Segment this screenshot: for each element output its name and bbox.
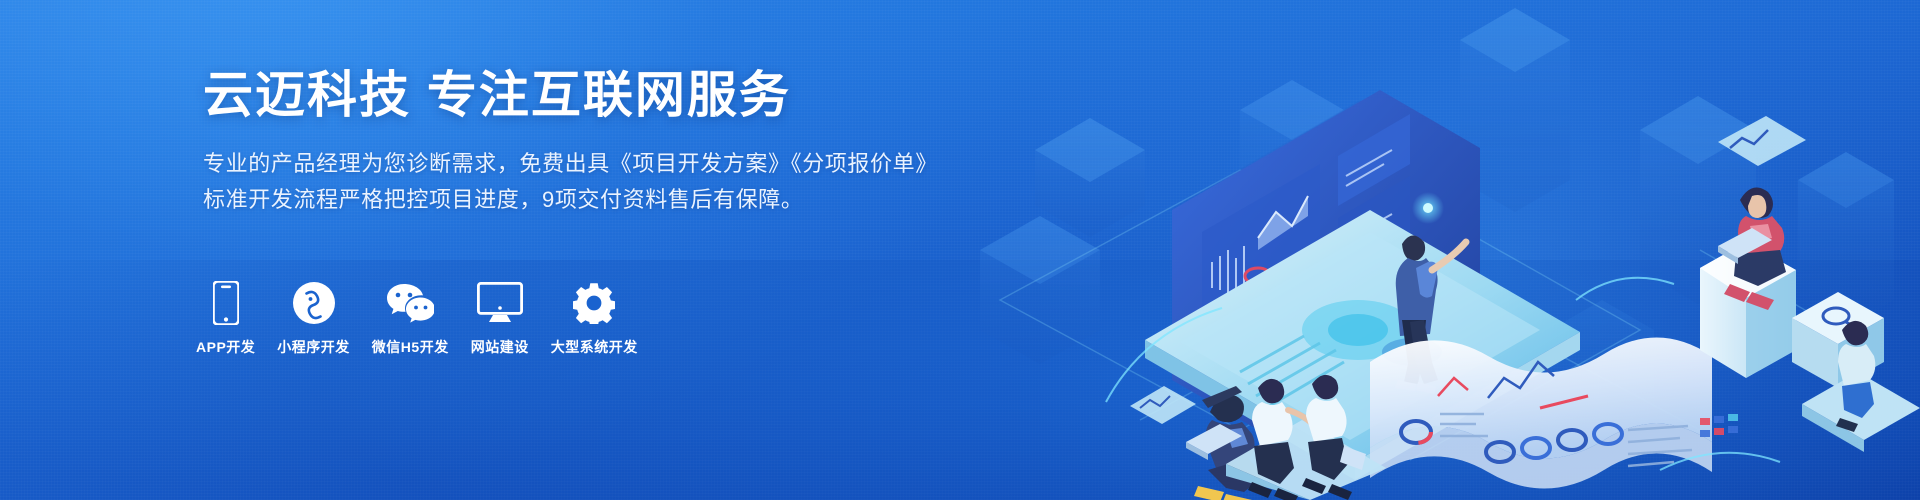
service-item-website[interactable]: 网站建设 — [471, 281, 529, 357]
standing-presenter — [1382, 235, 1466, 394]
service-label-wechat-h5: 微信H5开发 — [372, 337, 449, 357]
service-item-mini-program[interactable]: 小程序开发 — [277, 281, 350, 357]
seated-laptop-user — [1186, 386, 1264, 500]
gear-icon — [573, 281, 615, 325]
hero-banner: 云迈科技 专注互联网服务 专业的产品经理为您诊断需求，免费出具《项目开发方案》《… — [0, 0, 1920, 500]
service-label-mini-program: 小程序开发 — [277, 337, 350, 357]
subtitle-line-2: 标准开发流程严格把控项目进度，9项交付资料售后有保障。 — [203, 182, 923, 218]
smartphone-icon — [213, 281, 239, 325]
isometric-grid-lines — [1000, 170, 1840, 460]
hero-illustration — [940, 0, 1920, 500]
walking-person — [1802, 321, 1920, 452]
report-ribbon-with-charts — [1370, 337, 1738, 488]
search-cube — [1792, 292, 1884, 388]
service-item-app[interactable]: APP开发 — [196, 281, 255, 357]
banner-subtitle: 专业的产品经理为您诊断需求，免费出具《项目开发方案》《分项报价单》 标准开发流程… — [203, 146, 923, 217]
page-title: 云迈科技 专注互联网服务 — [203, 66, 923, 124]
glow-connectors — [1106, 278, 1780, 470]
service-item-wechat-h5[interactable]: 微信H5开发 — [372, 281, 449, 357]
service-item-large-system[interactable]: 大型系统开发 — [551, 281, 638, 357]
city-skyline-blocks — [980, 8, 1894, 460]
background-glow-right — [1040, 0, 1920, 500]
service-icon-row: APP开发 小程序开发 — [196, 281, 638, 357]
dashboard-screen — [1168, 0, 1480, 438]
monitor-icon — [477, 281, 523, 325]
service-label-large-system: 大型系统开发 — [551, 337, 638, 357]
woman-on-pillar-with-laptop — [1700, 116, 1806, 378]
banner-copy: 云迈科技 专注互联网服务 专业的产品经理为您诊断需求，免费出具《项目开发方案》《… — [203, 66, 923, 217]
subtitle-line-1: 专业的产品经理为您诊断需求，免费出具《项目开发方案》《分项报价单》 — [203, 146, 923, 182]
mini-program-icon — [293, 281, 335, 325]
tablet-platform — [1145, 210, 1580, 480]
two-people-talking — [1130, 375, 1386, 500]
wechat-icon — [386, 281, 434, 325]
service-label-app: APP开发 — [196, 337, 255, 357]
service-label-website: 网站建设 — [471, 337, 529, 357]
